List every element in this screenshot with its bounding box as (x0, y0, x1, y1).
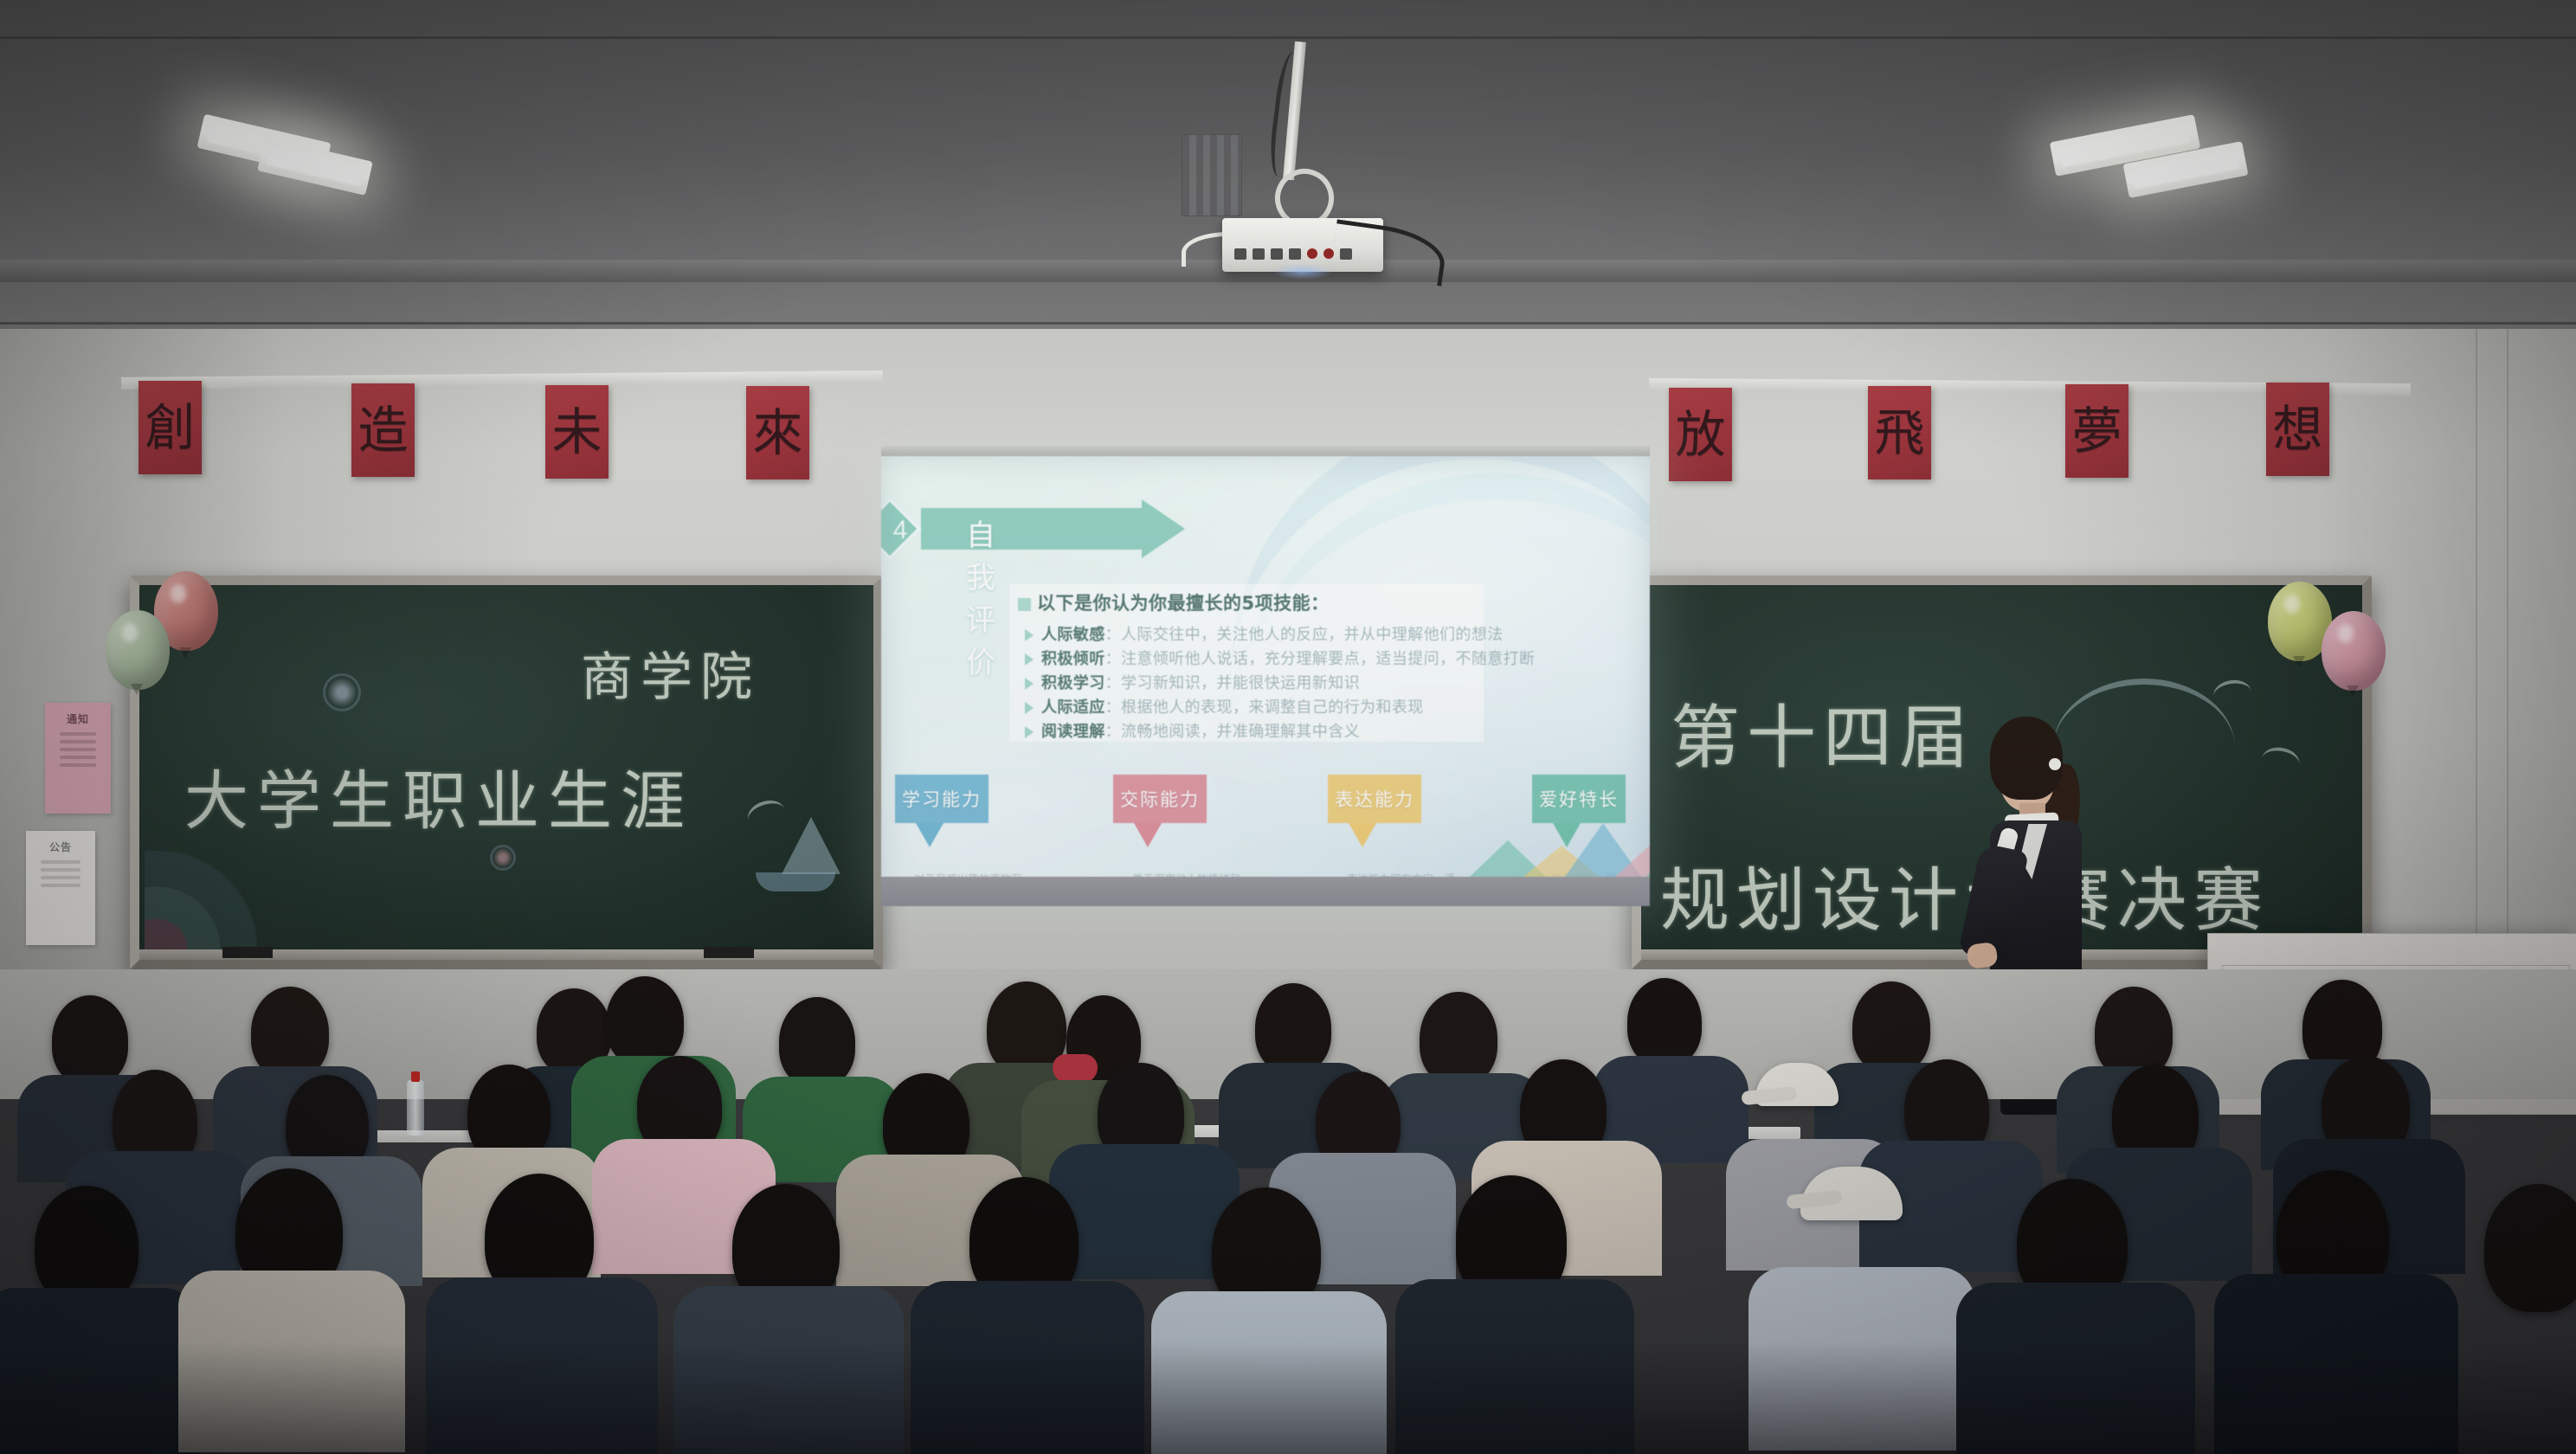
bullet-triangle-icon (1025, 678, 1034, 690)
audience-area (0, 969, 2576, 1454)
audience-head (779, 997, 855, 1087)
slide-skill-row: 人际敏感：人际交往中，关注他人的反应，并从中理解他们的想法 (1025, 622, 1504, 645)
flag-char: 想 (2272, 404, 2322, 454)
card-tag: 爱好特长 (1532, 775, 1626, 823)
mountain-decoration (1646, 828, 1650, 877)
slide-lead-text: 以下是你认为你最擅长的5项技能： (1018, 589, 1330, 615)
audience-head (1627, 978, 1702, 1066)
projector-indicator-glow (1272, 264, 1333, 280)
poster-title: 通知 (52, 711, 104, 726)
ceiling-seam (0, 36, 2576, 39)
bullet-triangle-icon (1025, 653, 1034, 666)
balloon-green-left (106, 610, 170, 690)
sailboat-hull-icon (756, 872, 835, 891)
blackboard-left: 商学院 大学生职业生涯 (130, 576, 883, 969)
slide-body-panel: 以下是你认为你最擅长的5项技能： 人际敏感：人际交往中，关注他人的反应，并从中理… (1009, 584, 1484, 742)
flag-char: 創 (145, 402, 195, 453)
audience-head (2484, 1184, 2576, 1312)
screen-bottom-bar (881, 877, 1650, 906)
bullet-triangle-icon (1025, 702, 1034, 714)
flag-char: 放 (1675, 409, 1725, 460)
wall-seam-2 (2507, 329, 2508, 1013)
poster-title-2: 公告 (33, 840, 88, 854)
slide-skill-row: 积极学习：学习新知识，并能很快运用新知识 (1025, 671, 1360, 693)
presentation-slide: 4 自我评价 以下是你认为你最擅长的5项技能： 人际敏感：人际交往中，关注他人的… (881, 456, 1650, 906)
card-tag: 交际能力 (1113, 775, 1207, 823)
classroom-scene: 創 造 未 來 放 飛 夢 想 通知 公告 商学院 大学生职业生涯 (0, 0, 2576, 1454)
mountain-decoration (1615, 842, 1650, 877)
bullet-square-icon (1018, 598, 1031, 611)
poster-pink: 通知 (45, 703, 111, 814)
flag-right-4: 想 (2266, 383, 2329, 476)
audience-head (606, 976, 684, 1066)
audience-head (1852, 981, 1930, 1073)
flag-left-4: 來 (746, 386, 809, 479)
audience-head (1420, 992, 1497, 1085)
flower-doodle-icon-2 (490, 845, 516, 871)
balloon-knot-2 (131, 684, 143, 695)
peacock-doodle-icon (145, 851, 257, 955)
audience-head (251, 987, 329, 1078)
blackboard-left-line2: 大学生职业生涯 (184, 750, 693, 842)
hair-bow (1053, 1054, 1098, 1084)
audience-head (1255, 983, 1331, 1073)
flag-char: 未 (551, 407, 602, 457)
slide-section-title: 自我评价 (966, 511, 998, 681)
water-bottle (407, 1080, 424, 1136)
card-tag: 表达能力 (1328, 775, 1421, 823)
card-tag: 学习能力 (895, 775, 989, 823)
flag-char: 造 (357, 405, 408, 455)
ceiling-seam-lower (0, 322, 2576, 325)
flag-left-2: 造 (351, 383, 415, 477)
bullet-triangle-icon (1025, 726, 1034, 738)
flag-right-3: 夢 (2065, 384, 2128, 478)
poster-white: 公告 (26, 831, 95, 945)
projection-screen: 4 自我评价 以下是你认为你最擅长的5项技能： 人际敏感：人际交往中，关注他人的… (881, 456, 1650, 906)
slide-skill-row: 阅读理解：流畅地阅读，并准确理解其中含义 (1025, 719, 1360, 742)
bullet-triangle-icon (1025, 629, 1034, 641)
eraser-left (222, 947, 273, 958)
sailboat-doodle-icon (782, 817, 840, 874)
balloon-pink-right (2322, 611, 2386, 691)
blackboard-left-line1: 商学院 (581, 635, 760, 711)
blackboard-right-line1: 第十四届 (1671, 682, 1975, 782)
flag-right-1: 放 (1669, 388, 1732, 481)
slide-section-number: 4 (881, 513, 919, 548)
slide-skill-row: 积极倾听：注意倾听他人说话，充分理解要点，适当提问，不随意打断 (1025, 647, 1535, 669)
presenter-fringe (1995, 751, 2049, 781)
balloon-knot-3 (2293, 656, 2305, 667)
balloon-knot (179, 647, 191, 659)
wall-seam (2476, 329, 2477, 1013)
presenter-hair-clip (2049, 758, 2061, 770)
audience-head (52, 995, 128, 1085)
flag-char: 飛 (1874, 408, 1924, 458)
slide-skill-row: 人际适应：根据他人的表现，来调整自己的行为和表现 (1025, 695, 1424, 717)
flower-doodle-icon (323, 673, 361, 711)
balloon-knot-4 (2347, 685, 2359, 697)
flag-left-3: 未 (545, 385, 609, 479)
flag-right-2: 飛 (1868, 386, 1931, 479)
ceiling-vent (1182, 134, 1242, 216)
flag-char: 來 (752, 408, 802, 458)
eraser-left-2 (704, 947, 754, 958)
flag-left-1: 創 (138, 381, 202, 474)
flag-char: 夢 (2071, 406, 2122, 456)
